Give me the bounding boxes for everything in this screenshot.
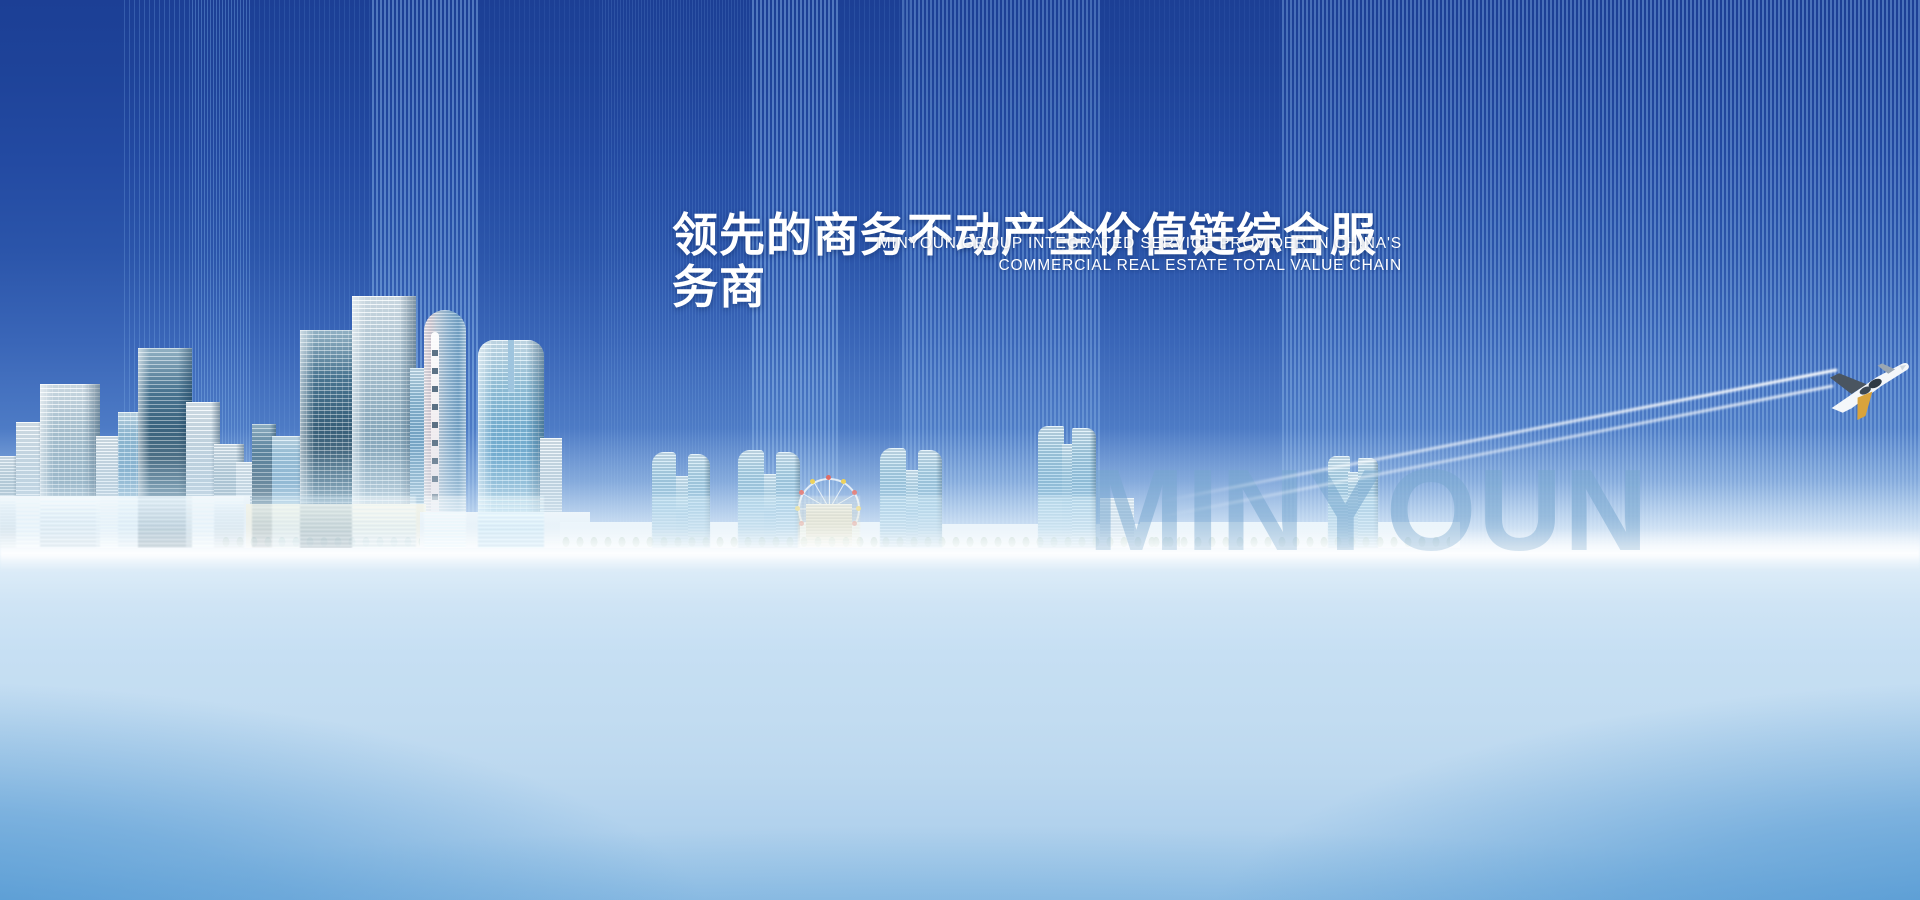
water-surface [0,548,1920,900]
banner-hero: MINYOUN 领先的商务不动产全价值链综合服务商 MINYOUN GROUP … [0,0,1920,900]
contrail-lower [1156,384,1834,519]
subtitle-line-2: COMMERCIAL REAL ESTATE TOTAL VALUE CHAIN [672,255,1402,277]
subtitle-block: MINYOUN GROUP INTEGRATED SERVICE PROVIDE… [672,233,1402,277]
contrail-upper [1160,368,1838,503]
airplane-group [1120,360,1920,580]
airplane-icon [1820,354,1916,420]
subtitle-line-1: MINYOUN GROUP INTEGRATED SERVICE PROVIDE… [672,233,1402,255]
